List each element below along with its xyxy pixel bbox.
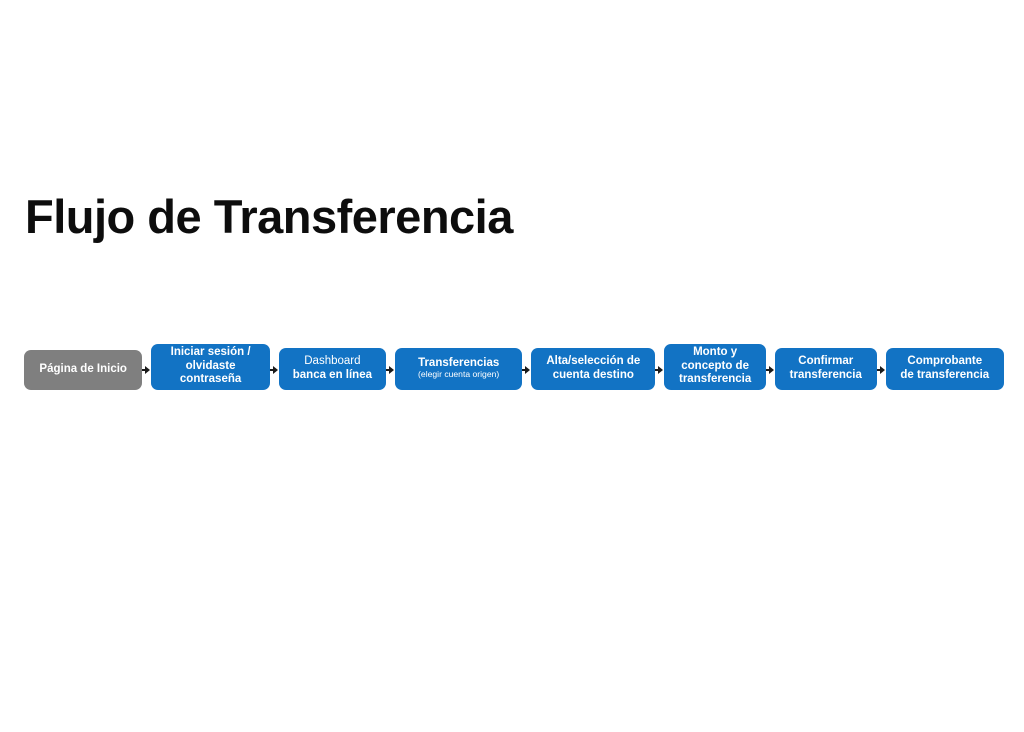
flow-node-label-line: concepto de <box>669 360 761 373</box>
flow-connector-7 <box>877 350 886 390</box>
arrow-head <box>389 366 394 374</box>
flow-node-label-line: Comprobante <box>891 355 999 368</box>
flow-node-label-line: Dashboard <box>284 355 381 368</box>
flow-node-monto-y-concepto[interactable]: Monto yconcepto detransferencia <box>664 344 766 390</box>
arrow-right-icon <box>766 366 775 375</box>
flow-node-label-line: cuenta destino <box>536 369 650 382</box>
flow-node-label-line: Alta/selección de <box>536 355 650 368</box>
flow-node-label-line: transferencia <box>669 373 761 386</box>
flow-node-dashboard-banca-en-linea[interactable]: Dashboardbanca en línea <box>279 348 386 390</box>
flow-connector-6 <box>766 350 775 390</box>
flow-node-label-line: contraseña <box>156 373 264 386</box>
flow-connector-4 <box>522 350 531 390</box>
arrow-head <box>769 366 774 374</box>
arrow-right-icon <box>877 366 886 375</box>
slide-canvas: Flujo de Transferencia Página de InicioI… <box>0 0 1024 732</box>
flow-node-label-line: Transferencias <box>400 357 517 370</box>
arrow-right-icon <box>386 366 395 375</box>
flow-connector-3 <box>386 350 395 390</box>
flow-node-label: Comprobantede transferencia <box>891 355 999 382</box>
transfer-flow-diagram: Página de InicioIniciar sesión /olvidast… <box>24 330 1004 390</box>
flow-node-label: Iniciar sesión /olvidastecontraseña <box>156 346 264 386</box>
arrow-head <box>273 366 278 374</box>
flow-connector-5 <box>655 350 664 390</box>
flow-node-label: Monto yconcepto detransferencia <box>669 346 761 386</box>
arrow-right-icon <box>655 366 664 375</box>
flow-node-label-line: Confirmar <box>780 355 872 368</box>
flow-node-alta-seleccion-cuenta-destino[interactable]: Alta/selección decuenta destino <box>531 348 655 390</box>
arrow-right-icon <box>142 366 151 375</box>
arrow-right-icon <box>522 366 531 375</box>
flow-node-label-line: Monto y <box>669 346 761 359</box>
page-title: Flujo de Transferencia <box>25 192 513 243</box>
flow-node-comprobante-de-transferencia[interactable]: Comprobantede transferencia <box>886 348 1004 390</box>
arrow-head <box>880 366 885 374</box>
flow-node-label: Transferencias(elegir cuenta origen) <box>400 357 517 380</box>
flow-node-iniciar-sesion[interactable]: Iniciar sesión /olvidastecontraseña <box>151 344 269 390</box>
flow-node-confirmar-transferencia[interactable]: Confirmartransferencia <box>775 348 877 390</box>
flow-node-transferencias[interactable]: Transferencias(elegir cuenta origen) <box>395 348 522 390</box>
flow-node-label-line: de transferencia <box>891 369 999 382</box>
arrow-head <box>145 366 150 374</box>
arrow-head <box>525 366 530 374</box>
flow-node-label-line: Iniciar sesión / <box>156 346 264 359</box>
arrow-head <box>658 366 663 374</box>
flow-node-label-line: olvidaste <box>156 360 264 373</box>
flow-connector-2 <box>270 350 279 390</box>
flow-node-label: Alta/selección decuenta destino <box>536 355 650 382</box>
flow-node-label: Dashboardbanca en línea <box>284 355 381 382</box>
flow-node-label: Página de Inicio <box>29 363 137 376</box>
flow-node-label-line: transferencia <box>780 369 872 382</box>
flow-node-label-line: Página de Inicio <box>29 363 137 376</box>
flow-connector-1 <box>142 350 151 390</box>
arrow-right-icon <box>270 366 279 375</box>
flow-node-pagina-de-inicio[interactable]: Página de Inicio <box>24 350 142 390</box>
flow-node-label-line: (elegir cuenta origen) <box>400 370 517 380</box>
flow-node-label: Confirmartransferencia <box>780 355 872 382</box>
flow-node-label-line: banca en línea <box>284 369 381 382</box>
